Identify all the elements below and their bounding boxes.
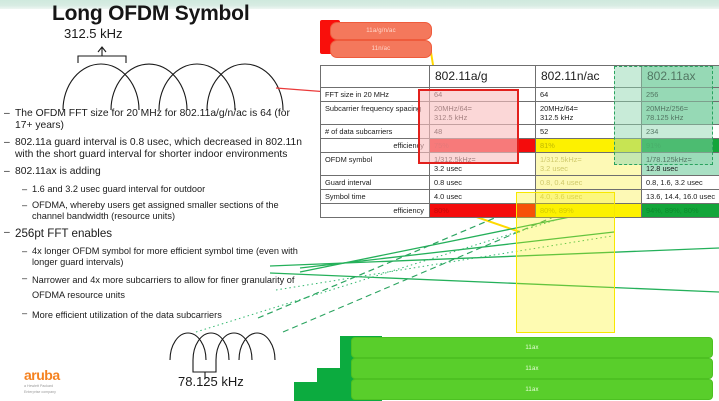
callout-11agnac[interactable]: 11a/g/n/ac: [330, 22, 432, 40]
table-row: OFDM symbol1/312.5kHz=3.2 usec1/312.5kHz…: [321, 153, 719, 176]
slide-canvas: Long OFDM Symbol: [0, 0, 719, 401]
bullet-item: –802.11a guard interval is 0.8 usec, whi…: [4, 137, 304, 160]
logo-tagline-line1: a Hewlett Packard: [24, 384, 84, 389]
page-title: Long OFDM Symbol: [52, 2, 249, 26]
row-label: efficiency: [321, 139, 430, 153]
row-label: OFDM symbol: [321, 153, 430, 176]
table-cell: 81%: [536, 139, 642, 153]
table-cell: 64: [536, 88, 642, 102]
bullet-dash: –: [22, 200, 32, 222]
table-row: FFT size in 20 MHz6464256: [321, 88, 719, 102]
logo-wordmark: aruba: [24, 368, 84, 383]
bullet-list: –The OFDM FFT size for 20 MHz for 802.11…: [4, 108, 304, 328]
table-header-802.11n/ac: 802.11n/ac: [536, 66, 642, 88]
bullet-item: –256pt FFT enables: [4, 227, 304, 240]
callout-11ax-2[interactable]: 11ax: [351, 358, 713, 379]
bullet-text: Narrower and 4x more subcarriers to allo…: [32, 273, 304, 303]
row-label: # of data subcarriers: [321, 125, 430, 139]
row-label: Symbol time: [321, 190, 430, 204]
subcarrier-spacing-bottom-label: 78.125 kHz: [178, 374, 244, 389]
table-cell: 1/312.5kHz=3.2 usec: [430, 153, 536, 176]
bullet-dash: –: [4, 108, 15, 131]
table-cell: 234: [642, 125, 719, 139]
bullet-item: –More efficient utilization of the data …: [22, 308, 304, 323]
bullet-dash: –: [22, 308, 32, 323]
table-cell: 80%: [430, 204, 536, 218]
table-cell: 80%, 89%: [536, 204, 642, 218]
logo-tagline-line2: Enterprise company: [24, 390, 84, 395]
table-cell: 52: [536, 125, 642, 139]
bullet-text: 802.11ax is adding: [15, 166, 304, 178]
subcarrier-spacing-top-label: 312.5 kHz: [64, 26, 123, 41]
bullet-dash: –: [22, 273, 32, 303]
comparison-table: 802.11a/g802.11n/ac802.11axFFT size in 2…: [320, 65, 719, 218]
table-cell: 48: [430, 125, 536, 139]
table-cell: 1/78.125kHz=12.8 usec: [642, 153, 719, 176]
bullet-text: 802.11a guard interval is 0.8 usec, whic…: [15, 137, 304, 160]
bullet-item: –OFDMA, whereby users get assigned small…: [22, 200, 304, 222]
bullet-dash: –: [22, 184, 32, 195]
bullet-item: –4x longer OFDM symbol for more efficien…: [22, 246, 304, 268]
callout-11ax-3[interactable]: 11ax: [351, 379, 713, 400]
table-row: Guard interval0.8 usec0.8, 0.4 usec0.8, …: [321, 176, 719, 190]
row-label: efficiency: [321, 204, 430, 218]
bullet-text: 256pt FFT enables: [15, 227, 304, 240]
bullet-dash: –: [4, 137, 15, 160]
table-cell: 0.8 usec: [430, 176, 536, 190]
callout-11nac[interactable]: 11n/ac: [330, 40, 432, 58]
table-cell: 91%: [642, 139, 719, 153]
row-label: Subcarrier frequency spacing: [321, 102, 430, 125]
bullet-dash: –: [4, 227, 15, 240]
row-label: FFT size in 20 MHz: [321, 88, 430, 102]
callout-11ax-1[interactable]: 11ax: [351, 337, 713, 358]
bullet-text: 4x longer OFDM symbol for more efficient…: [32, 246, 304, 268]
table-cell: 20MHz/64=312.5 kHz: [430, 102, 536, 125]
table-cell: 13.6, 14.4, 16.0 usec: [642, 190, 719, 204]
aruba-logo: aruba a Hewlett Packard Enterprise compa…: [24, 368, 84, 394]
table-cell: 20MHz/256=78.125 kHz: [642, 102, 719, 125]
table-row: efficiency80%80%, 89%94%, 89%, 80%: [321, 204, 719, 218]
table-row: efficiency75%81%91%: [321, 139, 719, 153]
table-row: # of data subcarriers4852234: [321, 125, 719, 139]
table-cell: 256: [642, 88, 719, 102]
bullet-text: More efficient utilization of the data s…: [32, 308, 304, 323]
bullet-text: The OFDM FFT size for 20 MHz for 802.11a…: [15, 108, 304, 131]
bullet-dash: –: [22, 246, 32, 268]
bullet-item: –The OFDM FFT size for 20 MHz for 802.11…: [4, 108, 304, 131]
table-cell: 75%: [430, 139, 536, 153]
table-cell: 0.8, 1.6, 3.2 usec: [642, 176, 719, 190]
row-label: Guard interval: [321, 176, 430, 190]
bullet-item: –Narrower and 4x more subcarriers to all…: [22, 273, 304, 303]
table-cell: 4.0, 3.6 usec: [536, 190, 642, 204]
table-header-802.11ax: 802.11ax: [642, 66, 719, 88]
table-header-802.11a/g: 802.11a/g: [430, 66, 536, 88]
bullet-item: –1.6 and 3.2 usec guard interval for out…: [22, 184, 304, 195]
table-cell: 4.0 usec: [430, 190, 536, 204]
bullet-text: 1.6 and 3.2 usec guard interval for outd…: [32, 184, 304, 195]
table-header-blank: [321, 66, 430, 88]
table-cell: 64: [430, 88, 536, 102]
bullet-dash: –: [4, 166, 15, 178]
bullet-item: –802.11ax is adding: [4, 166, 304, 178]
table-cell: 20MHz/64=312.5 kHz: [536, 102, 642, 125]
table-cell: 1/312.5kHz=3.2 usec: [536, 153, 642, 176]
bullet-text: OFDMA, whereby users get assigned smalle…: [32, 200, 304, 222]
table-header-row: 802.11a/g802.11n/ac802.11ax: [321, 66, 719, 88]
table-row: Subcarrier frequency spacing20MHz/64=312…: [321, 102, 719, 125]
table-row: Symbol time4.0 usec4.0, 3.6 usec13.6, 14…: [321, 190, 719, 204]
table-cell: 94%, 89%, 80%: [642, 204, 719, 218]
table-cell: 0.8, 0.4 usec: [536, 176, 642, 190]
